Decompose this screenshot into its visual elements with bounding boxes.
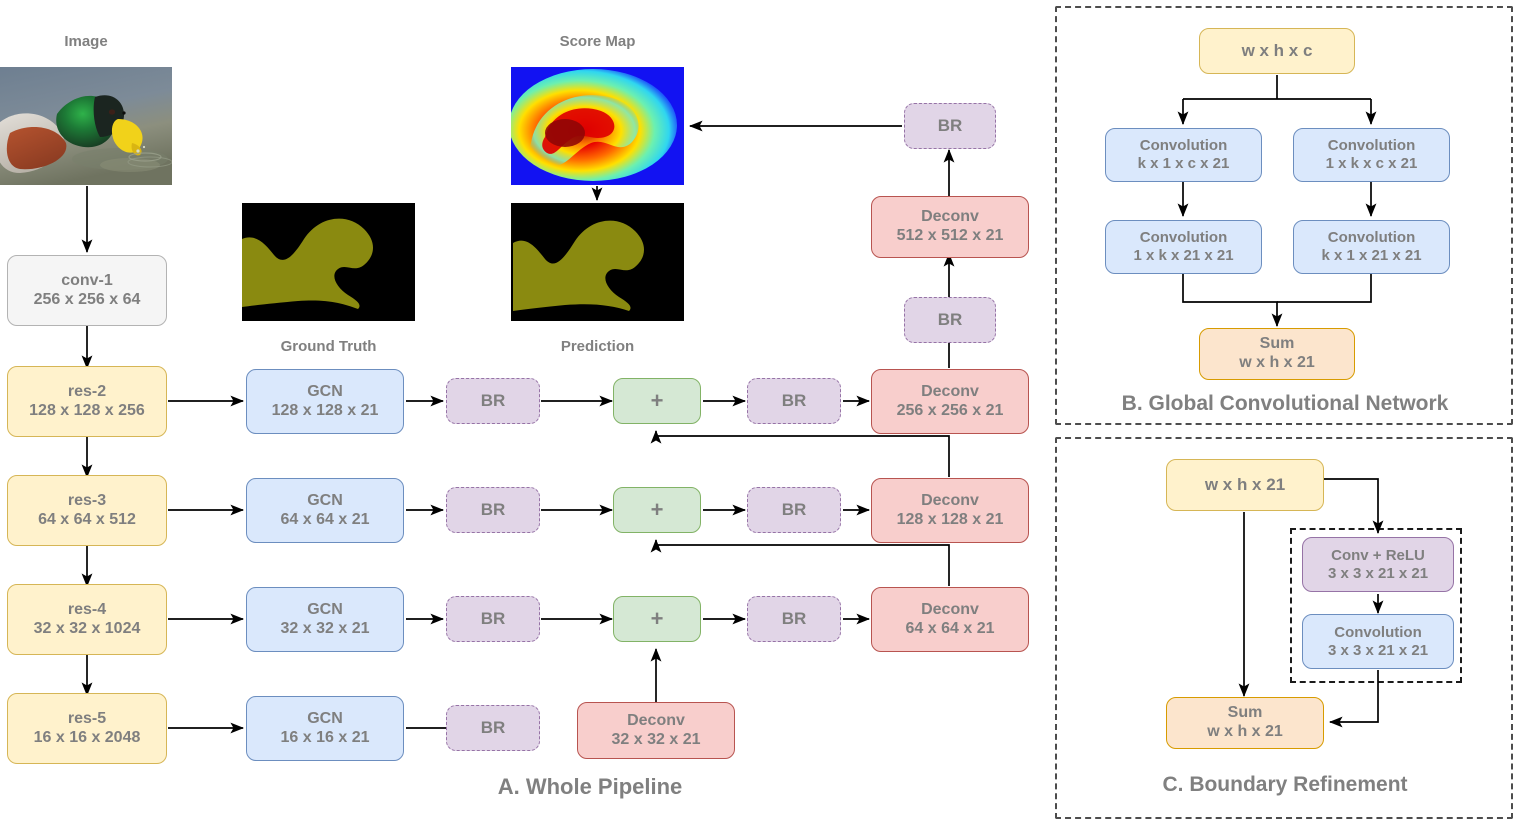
panel-a-caption: A. Whole Pipeline (330, 774, 850, 800)
node-deconv-64-name: Deconv (921, 601, 979, 620)
node-br-a1[interactable]: BR (446, 378, 540, 424)
node-br-a2[interactable]: BR (446, 487, 540, 533)
node-br-a2-label: BR (481, 500, 506, 520)
score-map-label: Score Map (511, 33, 684, 50)
node-deconv-256-name: Deconv (921, 383, 979, 402)
node-br-sum-name: Sum (1228, 704, 1263, 723)
node-gcn-input[interactable]: w x h x c (1199, 28, 1355, 74)
node-sum-3-label: + (651, 606, 664, 632)
node-conv-k1c21[interactable]: Convolution k x 1 x c x 21 (1105, 128, 1262, 182)
node-br-b1-label: BR (782, 391, 807, 411)
node-deconv-512-shape: 512 x 512 x 21 (897, 227, 1004, 246)
node-deconv-32-shape: 32 x 32 x 21 (612, 731, 701, 750)
node-conv-relu-name: Conv + ReLU (1331, 547, 1425, 565)
node-conv-k1c21-shape: k x 1 x c x 21 (1138, 155, 1230, 173)
node-res-3-name: res-3 (68, 492, 106, 511)
node-br-a1-label: BR (481, 391, 506, 411)
node-res-3[interactable]: res-3 64 x 64 x 512 (7, 475, 167, 546)
node-deconv-128[interactable]: Deconv 128 x 128 x 21 (871, 478, 1029, 543)
node-gcn-16[interactable]: GCN 16 x 16 x 21 (246, 696, 404, 761)
node-br-a3-label: BR (481, 609, 506, 629)
prediction-label: Prediction (511, 338, 684, 355)
node-res-5-shape: 16 x 16 x 2048 (34, 729, 141, 748)
node-res-4[interactable]: res-4 32 x 32 x 1024 (7, 584, 167, 655)
node-sum-2[interactable]: + (613, 487, 701, 533)
node-res-4-shape: 32 x 32 x 1024 (34, 620, 141, 639)
node-deconv-512[interactable]: Deconv 512 x 512 x 21 (871, 196, 1029, 258)
node-br-input[interactable]: w x h x 21 (1166, 459, 1324, 511)
ground-truth-thumbnail (242, 203, 415, 321)
node-br-mid[interactable]: BR (904, 297, 996, 343)
node-gcn-64-shape: 64 x 64 x 21 (281, 511, 370, 530)
node-br-top[interactable]: BR (904, 103, 996, 149)
node-res-5-name: res-5 (68, 710, 106, 729)
node-deconv-128-name: Deconv (921, 492, 979, 511)
node-gcn-sum[interactable]: Sum w x h x 21 (1199, 328, 1355, 380)
node-conv-k12121-shape: k x 1 x 21 x 21 (1321, 247, 1421, 265)
node-br-a4-label: BR (481, 718, 506, 738)
node-sum-1[interactable]: + (613, 378, 701, 424)
panel-b-caption: B. Global Convolutional Network (1060, 392, 1510, 416)
node-gcn-128-name: GCN (307, 383, 343, 402)
node-br-a4[interactable]: BR (446, 705, 540, 751)
node-gcn-32[interactable]: GCN 32 x 32 x 21 (246, 587, 404, 652)
node-conv-k12121-name: Convolution (1328, 229, 1415, 247)
node-conv-relu[interactable]: Conv + ReLU 3 x 3 x 21 x 21 (1302, 537, 1454, 592)
node-conv-1kc21[interactable]: Convolution 1 x k x c x 21 (1293, 128, 1450, 182)
ground-truth-label: Ground Truth (242, 338, 415, 355)
node-br-b2-label: BR (782, 500, 807, 520)
input-image-thumbnail (0, 67, 172, 185)
node-conv-1[interactable]: conv-1 256 x 256 x 64 (7, 255, 167, 326)
node-res-2-shape: 128 x 128 x 256 (29, 402, 145, 421)
node-br-mid-label: BR (938, 310, 963, 330)
node-gcn-128-shape: 128 x 128 x 21 (272, 402, 379, 421)
panel-c-caption: C. Boundary Refinement (1060, 773, 1510, 797)
node-deconv-32-name: Deconv (627, 712, 685, 731)
node-deconv-64-shape: 64 x 64 x 21 (906, 620, 995, 639)
node-conv-k1c21-name: Convolution (1140, 137, 1227, 155)
node-br-b3-label: BR (782, 609, 807, 629)
node-br-b2[interactable]: BR (747, 487, 841, 533)
image-label: Image (0, 33, 172, 50)
node-conv-k12121[interactable]: Convolution k x 1 x 21 x 21 (1293, 220, 1450, 274)
node-br-sum[interactable]: Sum w x h x 21 (1166, 697, 1324, 749)
node-deconv-512-name: Deconv (921, 208, 979, 227)
node-br-b3[interactable]: BR (747, 596, 841, 642)
node-br-convolution[interactable]: Convolution 3 x 3 x 21 x 21 (1302, 614, 1454, 669)
node-deconv-128-shape: 128 x 128 x 21 (897, 511, 1004, 530)
node-sum-2-label: + (651, 497, 664, 523)
node-res-2[interactable]: res-2 128 x 128 x 256 (7, 366, 167, 437)
node-br-sum-shape: w x h x 21 (1207, 723, 1283, 742)
node-br-input-name: w x h x 21 (1205, 475, 1285, 495)
node-conv-1k2121[interactable]: Convolution 1 x k x 21 x 21 (1105, 220, 1262, 274)
node-deconv-64[interactable]: Deconv 64 x 64 x 21 (871, 587, 1029, 652)
node-gcn-16-shape: 16 x 16 x 21 (281, 729, 370, 748)
node-gcn-128[interactable]: GCN 128 x 128 x 21 (246, 369, 404, 434)
node-gcn-64[interactable]: GCN 64 x 64 x 21 (246, 478, 404, 543)
node-gcn-sum-shape: w x h x 21 (1239, 354, 1315, 373)
node-deconv-32[interactable]: Deconv 32 x 32 x 21 (577, 702, 735, 759)
node-br-b1[interactable]: BR (747, 378, 841, 424)
node-gcn-32-name: GCN (307, 601, 343, 620)
node-conv-1k2121-shape: 1 x k x 21 x 21 (1133, 247, 1233, 265)
node-br-top-label: BR (938, 116, 963, 136)
node-sum-3[interactable]: + (613, 596, 701, 642)
node-gcn-input-name: w x h x c (1242, 41, 1313, 61)
node-deconv-256[interactable]: Deconv 256 x 256 x 21 (871, 369, 1029, 434)
node-conv-1-name: conv-1 (61, 272, 113, 291)
node-gcn-16-name: GCN (307, 710, 343, 729)
node-gcn-64-name: GCN (307, 492, 343, 511)
node-deconv-256-shape: 256 x 256 x 21 (897, 402, 1004, 421)
node-sum-1-label: + (651, 388, 664, 414)
node-br-convolution-shape: 3 x 3 x 21 x 21 (1328, 642, 1428, 660)
node-conv-1kc21-name: Convolution (1328, 137, 1415, 155)
node-conv-1-shape: 256 x 256 x 64 (34, 291, 141, 310)
node-br-convolution-name: Convolution (1334, 624, 1421, 642)
node-res-2-name: res-2 (68, 383, 106, 402)
node-conv-relu-shape: 3 x 3 x 21 x 21 (1328, 565, 1428, 583)
node-conv-1k2121-name: Convolution (1140, 229, 1227, 247)
node-gcn-32-shape: 32 x 32 x 21 (281, 620, 370, 639)
node-res-4-name: res-4 (68, 601, 106, 620)
prediction-thumbnail (511, 203, 684, 321)
node-res-5[interactable]: res-5 16 x 16 x 2048 (7, 693, 167, 764)
node-res-3-shape: 64 x 64 x 512 (38, 511, 136, 530)
node-br-a3[interactable]: BR (446, 596, 540, 642)
score-map-thumbnail (511, 67, 684, 185)
node-gcn-sum-name: Sum (1260, 335, 1295, 354)
node-conv-1kc21-shape: 1 x k x c x 21 (1326, 155, 1418, 173)
